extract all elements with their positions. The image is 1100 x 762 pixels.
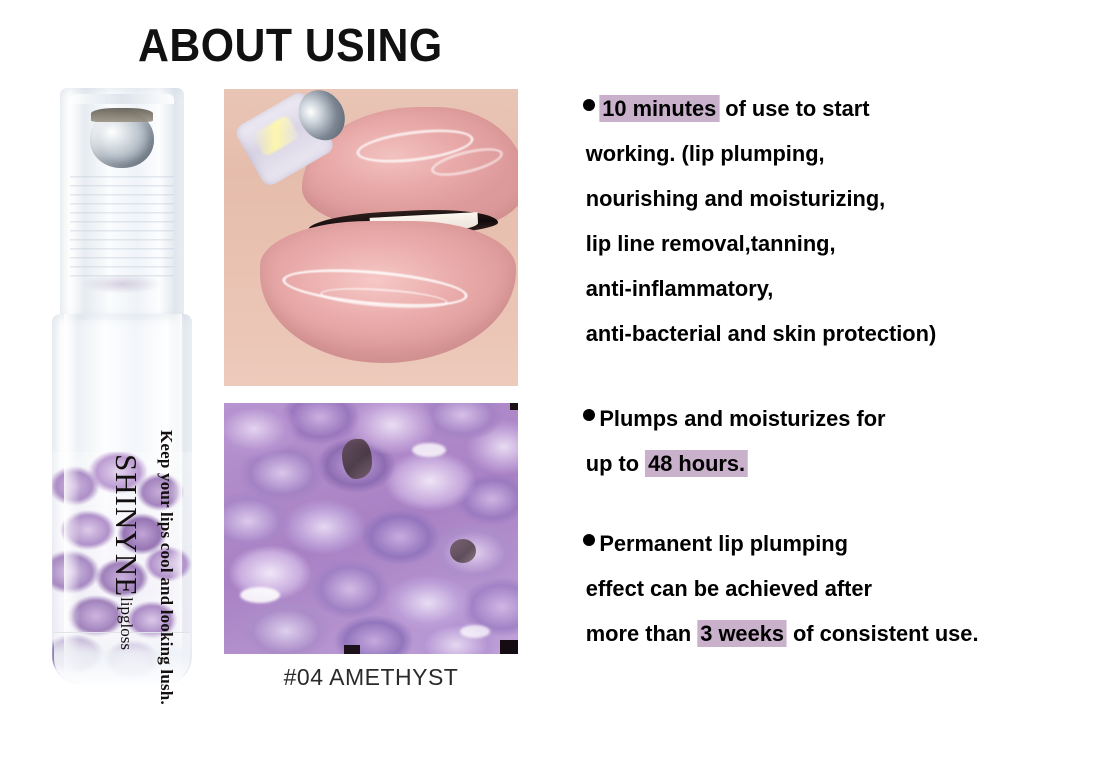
benefit-line: up to 48 hours. (578, 441, 1068, 486)
benefit-text: up to (586, 451, 645, 476)
photo-corner-artifact (500, 640, 518, 654)
bottle-left-highlight (64, 314, 80, 684)
benefit-text: lip line removal,tanning, (586, 231, 836, 256)
benefit-text: anti-bacterial and skin protection) (586, 321, 936, 346)
benefit-text: effect can be achieved after (586, 576, 872, 601)
page-title: ABOUT USING (138, 18, 443, 72)
crystal-highlight (240, 587, 280, 603)
benefit-text: Plumps and moisturizes for (599, 406, 885, 431)
benefit-text: working. (lip plumping, (586, 141, 825, 166)
bottle-tagline-label: Keep your lips cool and looking lush. (156, 430, 176, 705)
bottle-cap (60, 88, 184, 320)
brand-name: SHINYNE (109, 454, 144, 597)
highlighted-term: 48 hours. (645, 450, 748, 477)
benefit-text: more than (586, 621, 698, 646)
benefit-line: 10 minutes of use to start (578, 86, 1068, 131)
benefit-text: of consistent use. (787, 621, 979, 646)
benefits-list: 10 minutes of use to startworking. (lip … (578, 86, 1083, 656)
photo-corner-artifact (510, 403, 518, 410)
crystal-shade-caption: #04 AMETHYST (224, 664, 518, 691)
bottle-brand-label: SHINYNElipgloss (108, 454, 144, 650)
lips-application-photo (224, 89, 518, 386)
benefit-spacer (578, 486, 1083, 521)
benefit-line: anti-bacterial and skin protection) (578, 311, 1068, 356)
cap-inner-shadow (82, 274, 162, 294)
product-bottle-image: SHINYNElipgloss Keep your lips cool and … (52, 88, 192, 684)
rollerball-collar (91, 108, 153, 122)
highlighted-term: 3 weeks (697, 620, 787, 647)
benefit-permanent-effect: Permanent lip plumpingeffect can be achi… (578, 521, 1083, 656)
benefit-line: Plumps and moisturizes for (578, 396, 1068, 441)
cap-top-edge (70, 94, 174, 104)
benefit-line: Permanent lip plumping (578, 521, 1068, 566)
benefit-line: anti-inflammatory, (578, 266, 1068, 311)
product-type-label: lipgloss (117, 597, 136, 650)
benefit-text: nourishing and moisturizing, (586, 186, 885, 211)
crystal-highlight (412, 443, 446, 457)
benefit-text: Permanent lip plumping (599, 531, 848, 556)
highlighted-term: 10 minutes (599, 95, 719, 122)
dark-crystal (450, 539, 476, 563)
benefit-text: of use to start (719, 96, 869, 121)
benefit-text: anti-inflammatory, (586, 276, 774, 301)
benefit-line: more than 3 weeks of consistent use. (578, 611, 1068, 656)
amethyst-crystals-photo (224, 403, 518, 654)
crystal-highlight (460, 625, 490, 638)
benefit-duration: Plumps and moisturizes forup to 48 hours… (578, 396, 1083, 486)
dark-crystal (342, 439, 372, 479)
benefit-onset-time: 10 minutes of use to startworking. (lip … (578, 86, 1083, 356)
benefit-line: working. (lip plumping, (578, 131, 1068, 176)
benefit-line: lip line removal,tanning, (578, 221, 1068, 266)
benefit-line: effect can be achieved after (578, 566, 1068, 611)
benefit-line: nourishing and moisturizing, (578, 176, 1068, 221)
photo-corner-artifact (344, 645, 360, 654)
cap-ribbing (70, 176, 174, 278)
benefit-spacer (578, 356, 1083, 396)
